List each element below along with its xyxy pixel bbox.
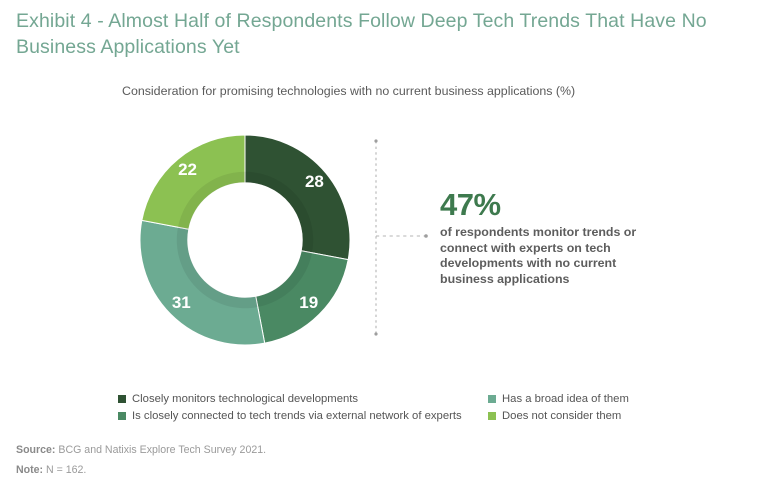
donut-slice-label: 28 [305,172,324,191]
callout-description: of respondents monitor trends or connect… [440,225,655,287]
legend-item[interactable]: Closely monitors technological developme… [118,390,488,407]
legend-label: Closely monitors technological developme… [132,393,358,405]
legend-item[interactable]: Is closely connected to tech trends via … [118,407,488,424]
legend-label: Does not consider them [502,410,621,422]
chart-subtitle: Consideration for promising technologies… [122,84,575,98]
legend-label: Has a broad idea of them [502,393,629,405]
donut-slice-label: 22 [178,160,197,179]
page-title: Exhibit 4 - Almost Half of Respondents F… [16,8,746,60]
legend-label: Is closely connected to tech trends via … [132,410,462,422]
donut-slice-label: 19 [299,293,318,312]
legend-swatch [488,395,496,403]
legend-swatch [118,395,126,403]
footer-notes: Source: BCG and Natixis Explore Tech Sur… [16,440,266,480]
bracket-dot-bottom [374,332,377,335]
source-line: Source: BCG and Natixis Explore Tech Sur… [16,440,266,460]
donut-slice-label: 31 [172,293,191,312]
source-label: Source: [16,444,55,456]
source-value: BCG and Natixis Explore Tech Survey 2021… [55,444,266,456]
note-label: Note: [16,464,43,476]
donut-hole [188,183,303,298]
legend-swatch [488,412,496,420]
callout-statistic: 47% [440,188,655,222]
note-line: Note: N = 162. [16,460,266,480]
legend-swatch [118,412,126,420]
bracket-dot-end [424,234,428,238]
note-value: N = 162. [43,464,86,476]
callout-connector-bracket [368,135,438,340]
chart-legend: Closely monitors technological developme… [118,390,718,424]
callout-block: 47% of respondents monitor trends or con… [440,188,655,287]
donut-chart: 28193122 [140,135,350,345]
bracket-dot-top [374,139,377,142]
legend-item[interactable]: Does not consider them [488,407,718,424]
donut-chart-svg: 28193122 [140,135,350,345]
legend-item[interactable]: Has a broad idea of them [488,390,718,407]
